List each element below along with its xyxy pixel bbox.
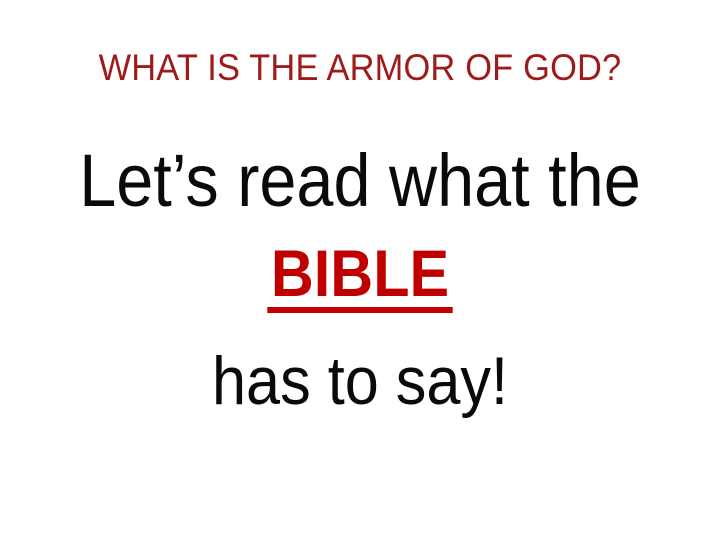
slide-canvas: WHAT IS THE ARMOR OF GOD? Let’s read wha… — [0, 0, 720, 540]
slide-title: WHAT IS THE ARMOR OF GOD? — [25, 46, 695, 90]
bible-emphasis-text: BIBLE — [267, 242, 452, 313]
slide-body: Let’s read what the BIBLE has to say! — [0, 140, 720, 419]
body-line-read: Let’s read what the — [36, 140, 684, 222]
body-line-bible: BIBLE — [36, 236, 684, 313]
body-line-say: has to say! — [36, 343, 684, 419]
